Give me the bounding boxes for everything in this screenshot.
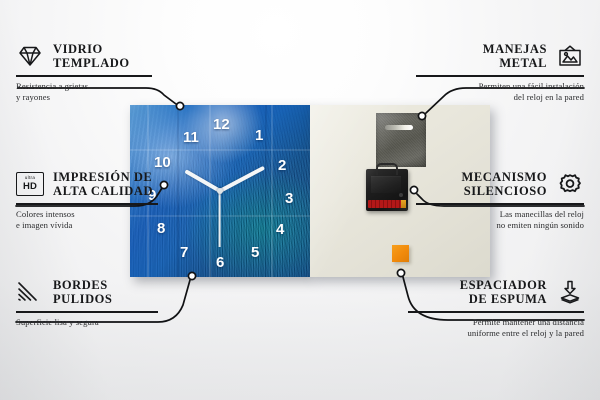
foam-spacer-icon (556, 280, 584, 304)
feature-description: Las manecillas del reloj no emiten ningú… (416, 209, 584, 232)
feature-description: Permite mantener una distancia uniforme … (408, 317, 584, 340)
feature-description: Superficie lisa y segura (16, 317, 158, 329)
connector-dot-manejas (418, 112, 425, 119)
feature-title: MECANISMO SILENCIOSO (461, 170, 547, 198)
connector-dot-vidrio-templado (176, 102, 183, 109)
feature-divider (416, 203, 584, 205)
feature-mecanismo-silencioso: MECANISMO SILENCIOSO Las manecillas del … (416, 170, 584, 232)
feature-title: BORDES PULIDOS (53, 278, 112, 306)
feature-divider (416, 75, 584, 77)
connector-dot-impresion (160, 181, 167, 188)
feature-divider (16, 75, 152, 77)
feature-title: ESPACIADOR DE ESPUMA (460, 278, 547, 306)
connector-dot-espaciador (397, 269, 404, 276)
feature-title: VIDRIO TEMPLADO (53, 42, 130, 70)
ultra-hd-icon-main-text: HD (23, 182, 37, 192)
feature-divider (16, 311, 158, 313)
ultra-hd-icon: ultra HD (16, 172, 44, 196)
feature-divider (408, 311, 584, 313)
feature-manejas-metal: MANEJAS METAL Permiten una fácil instala… (416, 42, 584, 104)
feature-description: Permiten una fácil instalación del reloj… (416, 81, 584, 104)
connector-dot-bordes (188, 272, 195, 279)
feature-description: Resistencia a grietas y rayones (16, 81, 152, 104)
picture-hanger-icon (556, 44, 584, 68)
feature-title: IMPRESIÓN DE ALTA CALIDAD (53, 170, 153, 198)
feature-title: MANEJAS METAL (483, 42, 547, 70)
feature-divider (16, 203, 158, 205)
feature-vidrio-templado: VIDRIO TEMPLADO Resistencia a grietas y … (16, 42, 152, 104)
feature-bordes-pulidos: BORDES PULIDOS Superficie lisa y segura (16, 278, 158, 328)
feature-impresion-alta-calidad: ultra HD IMPRESIÓN DE ALTA CALIDAD Color… (16, 170, 158, 232)
gear-icon (556, 172, 584, 196)
diamond-icon (16, 44, 44, 68)
infographic-canvas: 12 1 2 3 4 5 6 7 8 9 10 11 (0, 0, 600, 400)
feature-description: Colores intensos e imagen vívida (16, 209, 158, 232)
polished-edges-icon (16, 280, 44, 304)
feature-espaciador-espuma: ESPACIADOR DE ESPUMA Permite mantener un… (408, 278, 584, 340)
